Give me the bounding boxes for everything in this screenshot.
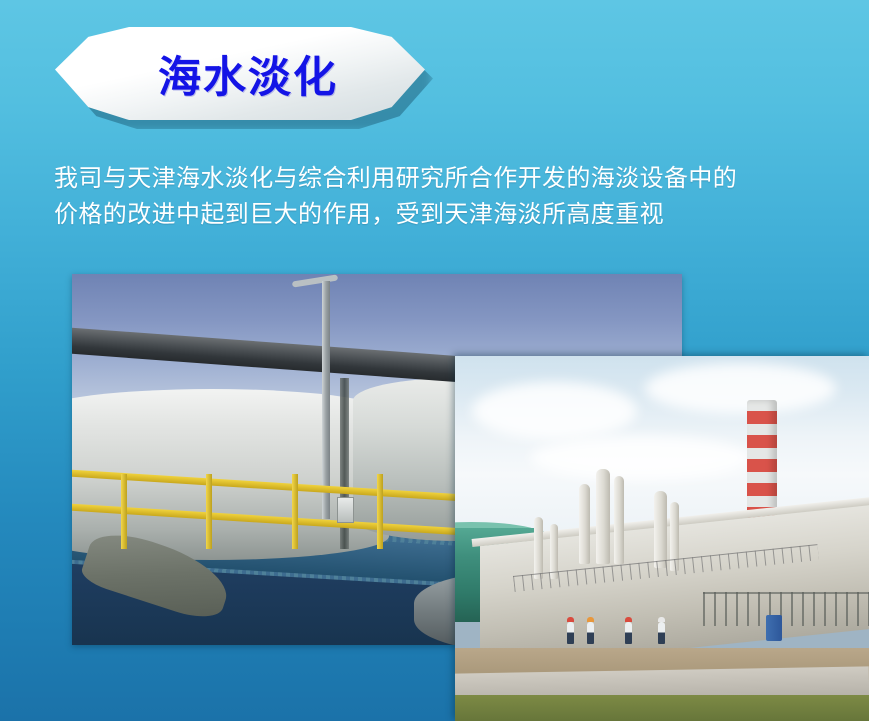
page-title: 海水淡化 bbox=[142, 43, 338, 105]
slide-root: 海水淡化 我司与天津海水淡化与综合利用研究所合作开发的海淡设备中的 价格的改进中… bbox=[0, 0, 869, 721]
photo1-rail-post-2 bbox=[206, 474, 212, 548]
body-paragraph: 我司与天津海水淡化与综合利用研究所合作开发的海淡设备中的 价格的改进中起到巨大的… bbox=[54, 160, 869, 232]
photo1-rail-post-3 bbox=[292, 474, 298, 548]
photo2-cloud-2 bbox=[645, 363, 835, 414]
photo2-worker-3 bbox=[625, 622, 632, 644]
photo1-instrument-box bbox=[337, 497, 354, 523]
photo2-worker-1 bbox=[567, 622, 574, 644]
photo2-column-1 bbox=[579, 484, 590, 564]
photo2-column-3 bbox=[614, 476, 624, 564]
body-line-1: 我司与天津海水淡化与综合利用研究所合作开发的海淡设备中的 bbox=[54, 160, 869, 196]
photo2-column-4 bbox=[654, 491, 667, 568]
photo2-worker-4 bbox=[658, 622, 665, 644]
photo2-column-6 bbox=[534, 517, 543, 579]
photo2-cloud-3 bbox=[530, 436, 754, 480]
photo2-worker-2 bbox=[587, 622, 594, 644]
photo2-blue-bin bbox=[766, 615, 782, 641]
photo1-rail-post-1 bbox=[121, 474, 127, 548]
body-line-2: 价格的改进中起到巨大的作用，受到天津海淡所高度重视 bbox=[54, 196, 869, 232]
banner-shape: 海水淡化 bbox=[55, 24, 425, 123]
desalination-plant-photo bbox=[455, 356, 869, 721]
photo1-rail-post-4 bbox=[377, 474, 383, 548]
photo2-grass-strip bbox=[455, 695, 869, 721]
title-banner: 海水淡化 bbox=[55, 24, 433, 132]
photo2-site-fence bbox=[703, 592, 869, 626]
photo1-lamp-mast bbox=[322, 281, 330, 518]
photo2-column-2 bbox=[596, 469, 610, 564]
photo2-cloud-1 bbox=[472, 382, 638, 440]
